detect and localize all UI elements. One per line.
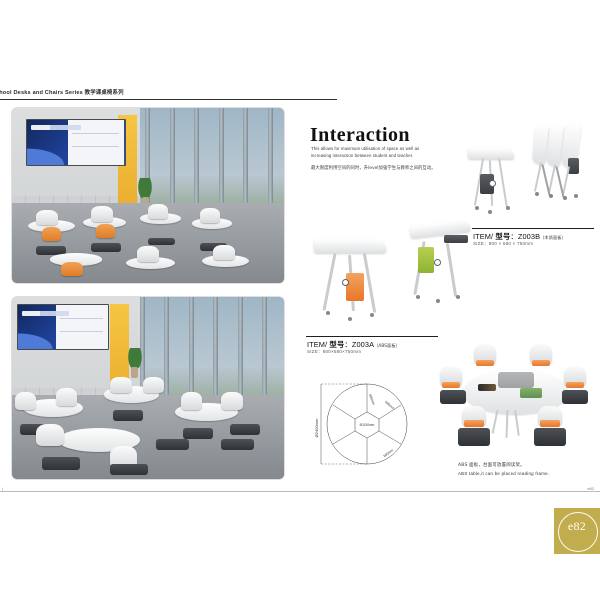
dim-overall-label: Ø2400mm bbox=[314, 418, 319, 437]
chair-seat bbox=[476, 360, 494, 366]
product-note-en: ABS table,it can be placed reading frame… bbox=[458, 470, 549, 478]
chair bbox=[91, 206, 113, 222]
chair-base bbox=[91, 243, 121, 252]
chair-base bbox=[183, 428, 213, 439]
product-render-z003a-orange bbox=[312, 225, 402, 325]
caster-wheel bbox=[436, 299, 440, 303]
caster-wheel bbox=[549, 194, 553, 198]
folding-knob bbox=[434, 259, 441, 266]
caster-wheel bbox=[563, 196, 567, 200]
dim-segment-label-3: 800mm bbox=[383, 448, 395, 458]
page-header: School Desks and Chairs Series 教学课桌椅系列 bbox=[0, 88, 337, 104]
chair-seat bbox=[566, 382, 584, 388]
slide-bullet-rows bbox=[60, 313, 103, 337]
classroom-photo-top bbox=[12, 108, 284, 283]
page-title: Interaction bbox=[310, 124, 410, 147]
item-label-z003a: ITEM/ 型号：Z003A（ABS面板） SIZE：800×580×750mm bbox=[306, 336, 438, 358]
item-prefix: ITEM/ bbox=[307, 340, 329, 349]
catalog-page: School Desks and Chairs Series 教学课桌椅系列 bbox=[0, 0, 600, 600]
chair-base bbox=[562, 390, 588, 404]
dim-segment-label-1: 800mm bbox=[368, 394, 376, 406]
chair-base bbox=[221, 439, 254, 450]
dim-center-label: Ø1150mm bbox=[360, 423, 375, 427]
caster-wheel bbox=[456, 295, 460, 299]
chair bbox=[42, 227, 61, 241]
item-code-line: ITEM/ 型号：Z003B（木质面板） bbox=[473, 231, 566, 242]
folding-knob bbox=[342, 279, 349, 286]
chair-base bbox=[440, 390, 466, 404]
item-label-cn: 型号 bbox=[495, 232, 510, 241]
header-divider bbox=[0, 99, 337, 100]
slide-bullet-rows bbox=[72, 128, 119, 153]
desk-leg bbox=[446, 243, 457, 297]
item-code-line: ITEM/ 型号：Z003A（ABS面板） bbox=[307, 339, 400, 350]
table-leg bbox=[492, 410, 499, 434]
series-title-cn: 教学课桌椅系列 bbox=[85, 90, 124, 96]
room-scene bbox=[12, 108, 284, 283]
product-note-cn: ABS 面板，台面可放置阅读架。 bbox=[458, 462, 549, 470]
size-label: SIZE： bbox=[307, 349, 323, 354]
series-title: School Desks and Chairs Series 教学课桌椅系列 bbox=[0, 88, 124, 96]
product-note: ABS 面板，台面可放置阅读架。 ABS table,it can be pla… bbox=[458, 462, 549, 477]
chair bbox=[200, 208, 220, 223]
caster-wheel bbox=[326, 311, 330, 315]
page-number-badge: e82 bbox=[554, 508, 600, 554]
table-leg bbox=[506, 410, 509, 438]
item-size-line: SIZE：800×580×750mm bbox=[307, 349, 361, 355]
caster-wheel bbox=[348, 317, 352, 321]
chair-seat bbox=[532, 360, 550, 366]
caster-wheel bbox=[370, 313, 374, 317]
tablet-device bbox=[478, 384, 496, 391]
chair bbox=[96, 224, 115, 238]
chair bbox=[221, 392, 243, 410]
item-material: （木质面板） bbox=[540, 235, 566, 240]
item-separator: ： bbox=[510, 232, 518, 241]
intro-description-en: This allows for maximum utilisation of s… bbox=[311, 146, 434, 160]
chair bbox=[137, 246, 159, 262]
footer-left-mark: | bbox=[2, 486, 3, 491]
potted-plant bbox=[124, 348, 146, 378]
desk-leg bbox=[534, 162, 542, 192]
item-material: （ABS面板） bbox=[374, 343, 400, 348]
size-value: 800×580×750mm bbox=[323, 349, 362, 354]
product-render-z003a-green bbox=[396, 215, 476, 315]
item-label-cn: 型号 bbox=[329, 340, 344, 349]
chair bbox=[110, 377, 132, 393]
desk-top bbox=[468, 148, 514, 159]
desk-leg bbox=[363, 253, 376, 313]
desk-leg bbox=[555, 166, 564, 198]
caster-wheel bbox=[535, 192, 539, 196]
intro-description-cn: 最大限度利用空间的同时，升level加强学生与教师之间的互动。 bbox=[311, 165, 439, 172]
item-separator: ： bbox=[344, 340, 352, 349]
chair bbox=[36, 210, 58, 226]
chair bbox=[36, 424, 63, 446]
technical-drawing: Ø2400mm Ø1150mm 800mm 580mm 800mm bbox=[305, 372, 423, 478]
desk-top bbox=[314, 239, 386, 253]
caster-wheel bbox=[416, 295, 420, 299]
desk-leg bbox=[498, 158, 508, 208]
item-prefix: ITEM/ bbox=[473, 232, 495, 241]
chair-seat bbox=[464, 420, 484, 427]
chair-seat bbox=[540, 420, 560, 427]
modesty-panel-orange bbox=[346, 273, 364, 301]
item-code: Z003B bbox=[518, 232, 540, 241]
product-render-round-group bbox=[436, 336, 596, 458]
chair bbox=[61, 262, 83, 276]
laptop-screen bbox=[520, 388, 542, 398]
series-title-en: School Desks and Chairs Series bbox=[0, 90, 83, 96]
slide-wave-graphic bbox=[18, 331, 57, 349]
under-frame bbox=[444, 235, 468, 243]
caster-wheel bbox=[488, 210, 492, 214]
product-render-z003b-desk bbox=[466, 140, 526, 222]
chair-base bbox=[113, 410, 143, 421]
slide-wave-graphic bbox=[27, 146, 70, 165]
chair bbox=[15, 392, 37, 410]
classroom-photo-bottom bbox=[12, 297, 284, 479]
chair-base bbox=[110, 464, 148, 475]
chair-base bbox=[42, 457, 80, 470]
chair bbox=[181, 392, 203, 410]
dim-segment-label-2: 580mm bbox=[384, 400, 395, 410]
modesty-panel-green bbox=[418, 247, 434, 273]
caster-wheel bbox=[506, 206, 510, 210]
center-cable-well bbox=[498, 372, 534, 388]
chair-base bbox=[230, 424, 260, 435]
room-scene bbox=[12, 297, 284, 479]
caster-wheel bbox=[475, 206, 479, 210]
desk-leg bbox=[541, 164, 550, 196]
size-value: 800 × 580 × 750mm bbox=[489, 241, 534, 246]
chair bbox=[56, 388, 78, 406]
chair bbox=[143, 377, 165, 393]
label-rule bbox=[306, 336, 438, 337]
caster-wheel bbox=[574, 194, 578, 198]
desk-leg bbox=[322, 253, 336, 311]
footer-divider bbox=[0, 491, 600, 492]
chair-base bbox=[534, 428, 566, 446]
folding-knob bbox=[489, 180, 496, 187]
chair bbox=[148, 204, 168, 219]
chair-base bbox=[148, 238, 175, 246]
chair-base bbox=[156, 439, 189, 450]
chair-base bbox=[458, 428, 490, 446]
item-label-z003b: ITEM/ 型号：Z003B（木质面板） SIZE：800 × 580 × 75… bbox=[472, 228, 594, 250]
item-code: Z003A bbox=[352, 340, 374, 349]
chair-seat bbox=[442, 382, 460, 388]
presentation-screen bbox=[17, 304, 109, 350]
layout-diagram-svg: Ø2400mm Ø1150mm 800mm 580mm 800mm bbox=[305, 372, 423, 478]
product-render-nested-stack bbox=[524, 120, 596, 206]
label-rule bbox=[472, 228, 594, 229]
footer-right-mark: e82 bbox=[587, 486, 594, 491]
item-size-line: SIZE：800 × 580 × 750mm bbox=[473, 241, 533, 247]
presentation-screen bbox=[26, 119, 126, 167]
chair bbox=[213, 245, 235, 261]
page-number: e82 bbox=[554, 519, 600, 534]
